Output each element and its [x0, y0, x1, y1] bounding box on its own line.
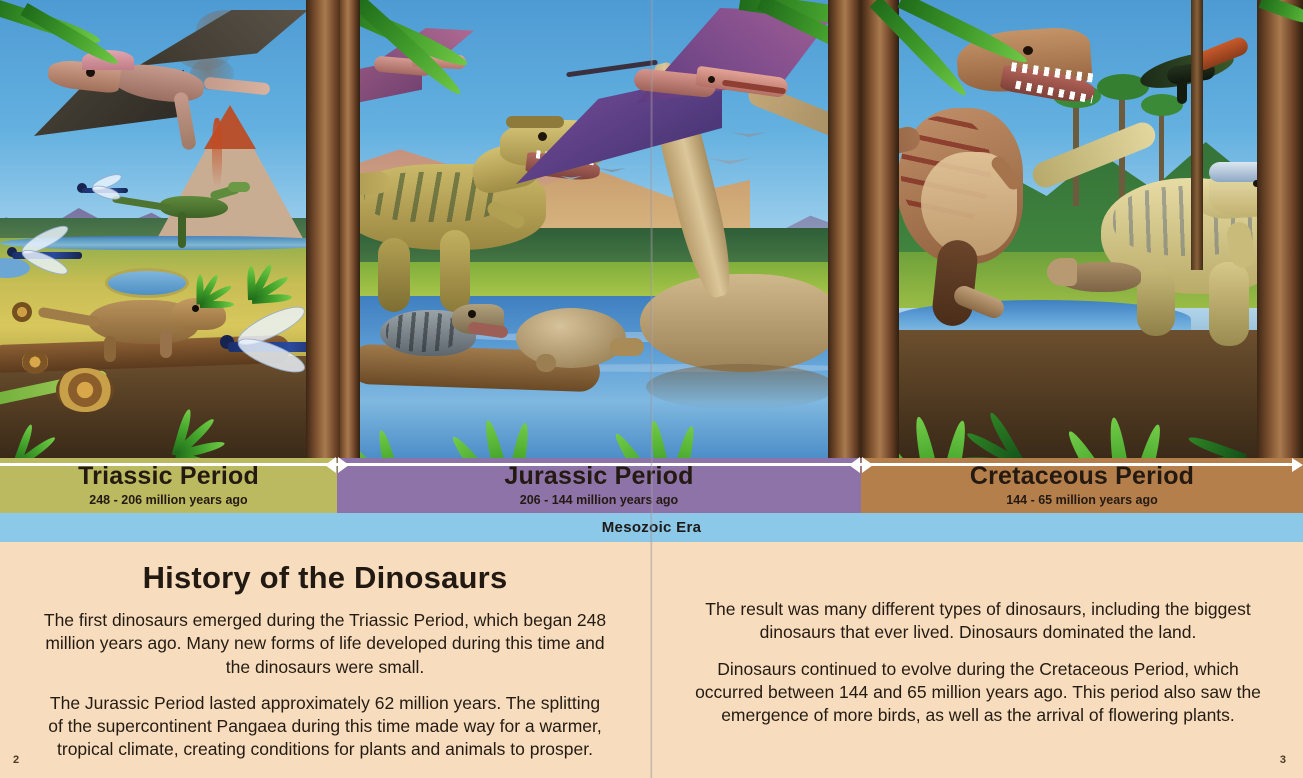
small-pterosaur-leg	[1177, 78, 1187, 104]
timeline-period-jurassic[interactable]: Jurassic Period 206 - 144 million years …	[337, 458, 861, 513]
paragraph: The first dinosaurs emerged during the T…	[0, 609, 650, 679]
foreground-fern	[1021, 410, 1141, 458]
sauropod-body	[640, 274, 840, 372]
illustration-panel-jurassic	[340, 0, 861, 458]
small-reptile-eye	[468, 310, 476, 318]
hadrosaur-leg	[1137, 268, 1175, 336]
paragraph: The Jurassic Period lasted approximately…	[0, 692, 650, 762]
text-column-left: History of the Dinosaurs The first dinos…	[0, 542, 650, 778]
early-mammal-eye	[192, 305, 199, 312]
period-range: 248 - 206 million years ago	[89, 494, 247, 507]
pterosaur-leg	[173, 91, 197, 151]
tree-trunk	[306, 0, 340, 458]
palm-frond	[197, 275, 204, 305]
theropod-leg	[378, 238, 410, 312]
early-mammal-leg	[104, 336, 116, 362]
text-column-right: The result was many different types of d…	[653, 542, 1303, 778]
palm-frond	[200, 301, 234, 308]
period-name: Cretaceous Period	[970, 464, 1194, 489]
turtle-head	[610, 338, 644, 356]
geologic-timeline: Triassic Period 248 - 206 million years …	[0, 458, 1303, 513]
tree-trunk-thin	[1191, 0, 1203, 270]
pterosaur-arm	[204, 77, 271, 96]
turtle-leg	[536, 354, 556, 372]
ceratopsian-frill	[1047, 258, 1077, 286]
tree-trunk	[1257, 0, 1303, 458]
pterosaur-eye	[708, 76, 715, 83]
tree-trunk	[828, 0, 861, 458]
dragonfly	[82, 178, 128, 198]
era-band: Mesozoic Era	[0, 513, 1303, 542]
period-name: Jurassic Period	[504, 464, 693, 489]
paragraph: Dinosaurs continued to evolve during the…	[653, 658, 1303, 728]
illustration-panel-cretaceous	[861, 0, 1303, 458]
palmetto-fan	[670, 450, 850, 458]
timeline-period-cretaceous[interactable]: Cretaceous Period 144 - 65 million years…	[861, 458, 1303, 513]
paragraph: The result was many different types of d…	[653, 598, 1303, 645]
early-mammal-leg	[160, 330, 172, 358]
theropod-leg	[440, 230, 470, 312]
page-number-right: 3	[1280, 754, 1286, 766]
period-range: 206 - 144 million years ago	[520, 494, 678, 507]
palm-frond	[247, 266, 256, 300]
fiddlehead-fern-coil	[12, 302, 32, 322]
pterosaur	[516, 8, 846, 188]
era-label: Mesozoic Era	[602, 519, 701, 536]
book-spread: Triassic Period 248 - 206 million years …	[0, 0, 1303, 778]
small-reptile-stripes	[386, 312, 460, 352]
tree-trunk	[861, 0, 899, 458]
watering-hole	[105, 268, 189, 298]
small-theropod-head	[228, 182, 250, 192]
dragonfly	[12, 238, 82, 266]
period-range: 144 - 65 million years ago	[1006, 494, 1157, 507]
period-name: Triassic Period	[78, 464, 259, 489]
sauropod-reflection	[646, 364, 836, 410]
foreground-fern	[176, 404, 266, 458]
illustration-panorama	[0, 0, 1303, 458]
small-theropod-leg	[178, 212, 186, 248]
tree-trunk	[340, 0, 360, 458]
fiddlehead-fern-coil	[22, 350, 48, 374]
palm-frond	[252, 293, 292, 304]
hadrosaur-leg	[1209, 262, 1249, 346]
tyrannosaur-eye	[1023, 46, 1033, 55]
text-area: History of the Dinosaurs The first dinos…	[0, 542, 1303, 778]
timeline-period-triassic[interactable]: Triassic Period 248 - 206 million years …	[0, 458, 337, 513]
turtle-shell	[516, 308, 626, 368]
fiddlehead-fern-coil	[56, 368, 114, 412]
foreground-fern	[16, 420, 106, 458]
illustration-panel-triassic	[0, 0, 340, 458]
page-number-left: 2	[13, 754, 19, 766]
page-title: History of the Dinosaurs	[0, 560, 650, 596]
